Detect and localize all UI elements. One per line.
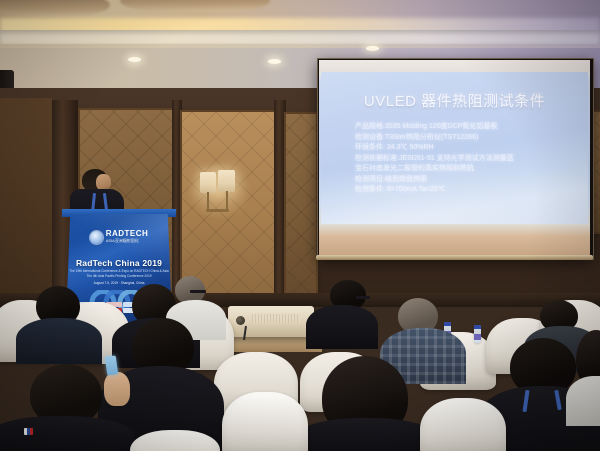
projector-lens-icon <box>236 316 245 325</box>
sconce-arm-left <box>207 192 209 210</box>
downlight-icon <box>366 46 379 51</box>
event-title: RadTech China 2019 <box>66 258 172 268</box>
bottle-label <box>474 334 481 340</box>
wall-wood-left <box>0 98 52 303</box>
glasses-icon <box>356 296 370 299</box>
sconce-shade-right <box>218 170 235 192</box>
presentation-slide: UVLED 器件热阻测试条件 产品规格:3535 Molding 120度DCP… <box>321 72 588 224</box>
bottle-cap <box>474 325 481 329</box>
glasses-icon <box>190 290 206 293</box>
slide-line: 检测设备:T3Ster热阻分析仪(TST12266) <box>355 133 570 144</box>
slide-line: 产品规格:3535 Molding 120度DCP氮化铝基板 <box>355 122 570 133</box>
chair <box>420 398 506 451</box>
event-subtitle-1: The 19th International Conference & Expo… <box>66 269 172 273</box>
attendee-shoulders <box>306 305 378 349</box>
sconce-shade-left <box>200 172 216 193</box>
wall-pilaster <box>274 100 286 300</box>
radtech-logo: RADTECH ASIA亚洲辐射固化 <box>66 230 172 244</box>
slide-line: 环境条件: 24.3℃ 50%RH <box>355 143 570 154</box>
attendee-shoulders <box>0 416 134 451</box>
slide-line: 宝石衬底发光二极管的真实热阻和热抗 <box>355 164 570 175</box>
slide-line: 检测项目:结到焊盘热阻 <box>355 175 570 186</box>
downlight-icon <box>268 59 281 64</box>
slide-line: 检测依据标准:JESD51-51 支持光学测试方法测量蓝 <box>355 154 570 165</box>
wall-panel <box>286 114 316 294</box>
wall-pilaster <box>172 100 182 300</box>
slide-line: 检测条件: If=700mA Ta=25℃ <box>355 185 570 196</box>
sconce-base <box>206 209 229 212</box>
logo-line-2: ASIA亚洲辐射固化 <box>106 237 149 244</box>
attendee-badge <box>24 428 33 435</box>
conference-room-photo: UVLED 器件热阻测试条件 产品规格:3535 Molding 120度DCP… <box>0 0 600 451</box>
attendee-hand <box>104 372 130 406</box>
projector-vent <box>252 314 300 323</box>
radtech-logo-text: RADTECH ASIA亚洲辐射固化 <box>106 230 149 244</box>
ceiling-coffer-left <box>0 0 110 16</box>
event-subtitle-2: The 4th Asia Pacific Printing Conference… <box>66 274 172 278</box>
chair <box>222 392 308 451</box>
slide-body: 产品规格:3535 Molding 120度DCP氮化铝基板 检测设备:T3St… <box>355 122 570 196</box>
bottle-cap <box>444 322 451 326</box>
screen-bottom-border <box>319 226 590 256</box>
downlight-icon <box>128 57 141 62</box>
logo-line-2-main: ASIA <box>106 238 115 243</box>
sconce-arm-right <box>226 191 228 210</box>
logo-line-1: RADTECH <box>106 230 149 237</box>
screen-roller-bar <box>316 255 593 260</box>
slide-title: UVLED 器件热阻测试条件 <box>321 90 588 111</box>
radtech-globe-icon <box>90 231 103 244</box>
attendee-shoulders <box>296 418 436 451</box>
attendee-shoulders <box>16 318 102 364</box>
screen-top-border <box>319 60 590 72</box>
logo-line-2-suffix: 亚洲辐射固化 <box>115 238 139 243</box>
